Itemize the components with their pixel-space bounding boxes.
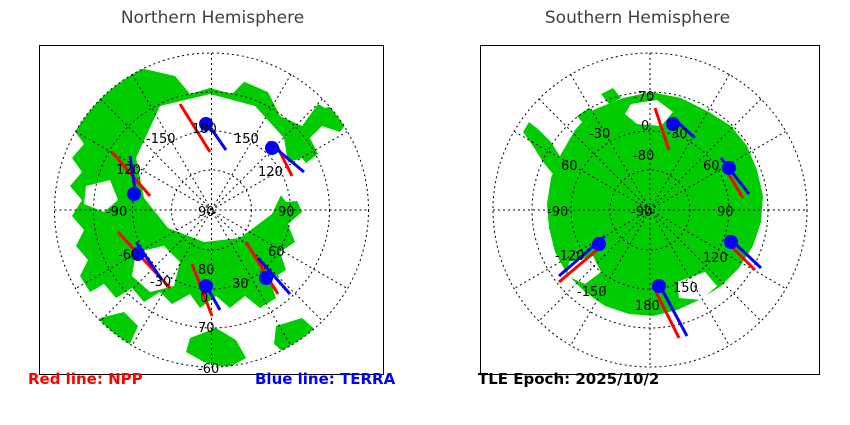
label-south-150: 150 xyxy=(673,281,698,296)
plot-area-south: -60 -70 -30 0 30 -80 60 60 -90 -90 90 -1… xyxy=(480,45,820,375)
legend-npp-name: NPP xyxy=(108,370,143,388)
label-south-m30: -30 xyxy=(589,127,610,142)
label-north-center-90: 90 xyxy=(198,205,215,220)
label-south-90: 90 xyxy=(717,205,734,220)
north-polar-map: -150 180 150 120 120 -90 90 -60 60 -30 3… xyxy=(40,46,383,374)
label-north-30: 30 xyxy=(232,277,249,292)
label-north-m150: -150 xyxy=(146,132,176,147)
page-root: Northern Hemisphere xyxy=(0,0,850,425)
label-south-0: 0 xyxy=(641,119,649,134)
label-south-m80: -80 xyxy=(633,149,654,164)
panel-southern-hemisphere: Southern Hemisphere xyxy=(425,0,850,425)
label-north-120left: 120 xyxy=(116,163,141,178)
label-north-lat80: 80 xyxy=(198,263,215,278)
legend-npp: Red line: NPP xyxy=(28,370,143,388)
panel-northern-hemisphere: Northern Hemisphere xyxy=(0,0,425,425)
label-north-60: 60 xyxy=(268,245,285,260)
label-north-180: 180 xyxy=(192,122,217,137)
label-south-top-m60: -60 xyxy=(636,46,657,48)
legend-npp-prefix: Red line: xyxy=(28,370,103,388)
label-south-m70: -70 xyxy=(633,90,654,105)
label-north-150: 150 xyxy=(234,132,259,147)
label-north-90: 90 xyxy=(278,205,295,220)
panel-title-north: Northern Hemisphere xyxy=(0,8,425,28)
label-south-m90center: -90 xyxy=(631,205,652,220)
label-north-120right: 120 xyxy=(258,165,283,180)
legend-terra: Blue line: TERRA xyxy=(255,370,395,388)
south-polar-map: -60 -70 -30 0 30 -80 60 60 -90 -90 90 -1… xyxy=(481,46,819,374)
legend-terra-name: TERRA xyxy=(340,370,395,388)
label-north-m90: -90 xyxy=(106,205,127,220)
label-south-30: 30 xyxy=(671,127,688,142)
label-south-m150: -150 xyxy=(577,285,607,300)
label-north-m60: -60 xyxy=(118,248,139,263)
label-south-60right: 60 xyxy=(703,159,720,174)
label-south-60left: 60 xyxy=(561,159,578,174)
label-north-m30: -30 xyxy=(150,275,171,290)
label-south-m120: -120 xyxy=(555,249,585,264)
label-north-0: 0 xyxy=(200,291,208,306)
label-north-bottom-m60: -60 xyxy=(198,362,219,374)
label-north-lat70: 70 xyxy=(198,321,215,336)
plot-area-north: -150 180 150 120 120 -90 90 -60 60 -30 3… xyxy=(39,45,384,375)
panel-title-south: Southern Hemisphere xyxy=(425,8,850,28)
legend-tle-epoch: TLE Epoch: 2025/10/2 xyxy=(478,370,659,388)
label-south-180: 180 xyxy=(635,299,660,314)
label-south-120: 120 xyxy=(703,251,728,266)
legend-terra-prefix: Blue line: xyxy=(255,370,335,388)
label-south-m90left: -90 xyxy=(547,205,568,220)
